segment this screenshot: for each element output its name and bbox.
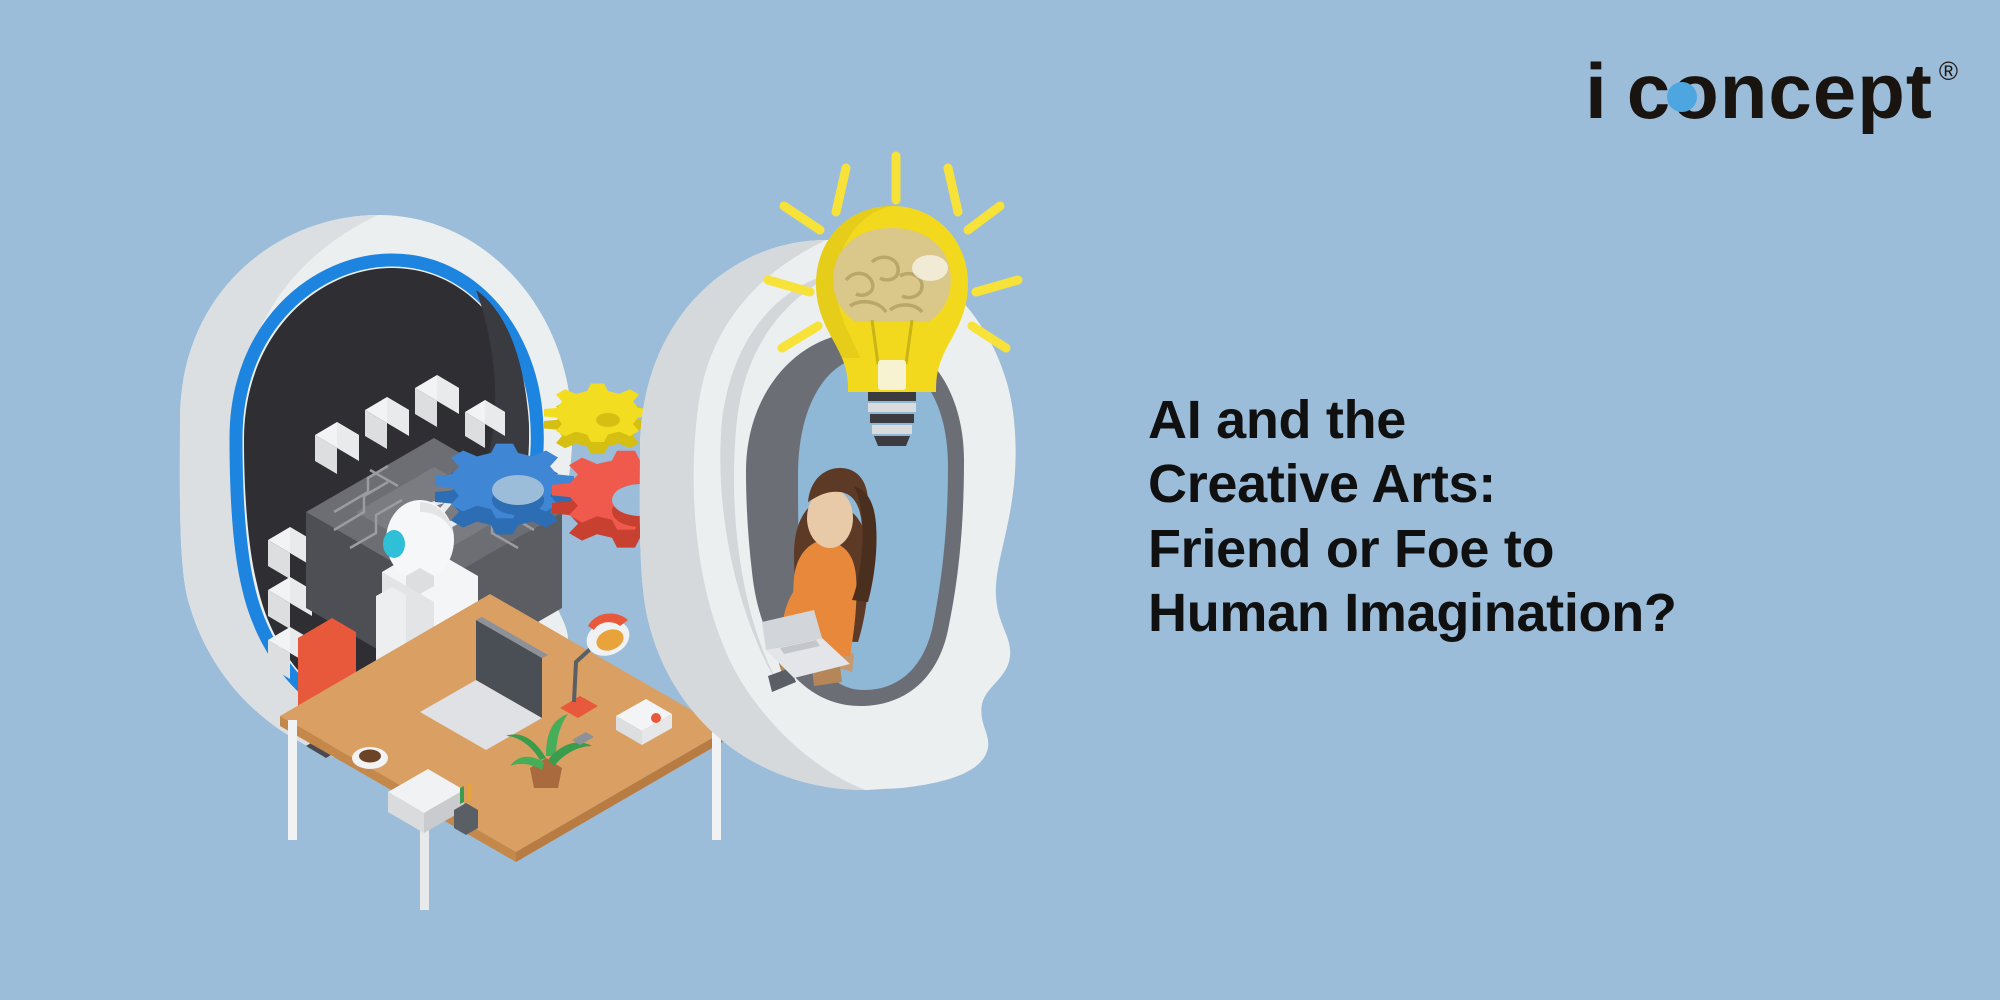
- registered-trademark-icon: ®: [1939, 56, 1958, 87]
- hero-illustration: AI: [120, 120, 1120, 910]
- headline-line-2: Creative Arts:: [1148, 452, 1888, 516]
- headline-line-3: Friend or Foe to: [1148, 517, 1888, 581]
- logo-blue-dot-icon: [1667, 82, 1697, 112]
- robot-eye-visor: [383, 530, 405, 558]
- brain-highlight: [912, 255, 948, 281]
- logo-letter-i: i: [1585, 52, 1607, 130]
- headline-line-1: AI and the: [1148, 388, 1888, 452]
- headline-line-4: Human Imagination?: [1148, 581, 1888, 645]
- desk-leg-left: [288, 720, 297, 840]
- coffee-cup: [352, 747, 388, 769]
- brand-logo[interactable]: i concept ®: [1585, 52, 1958, 130]
- banner-root: i concept ® AI and the Creative Arts: Fr…: [0, 0, 2000, 1000]
- bulb-base: [868, 392, 916, 446]
- desk-leg-right: [712, 732, 721, 840]
- logo-wordmark: concept: [1627, 52, 1933, 130]
- filament-core: [878, 360, 906, 390]
- headline: AI and the Creative Arts: Friend or Foe …: [1148, 388, 1888, 645]
- gear-yellow: [544, 383, 651, 454]
